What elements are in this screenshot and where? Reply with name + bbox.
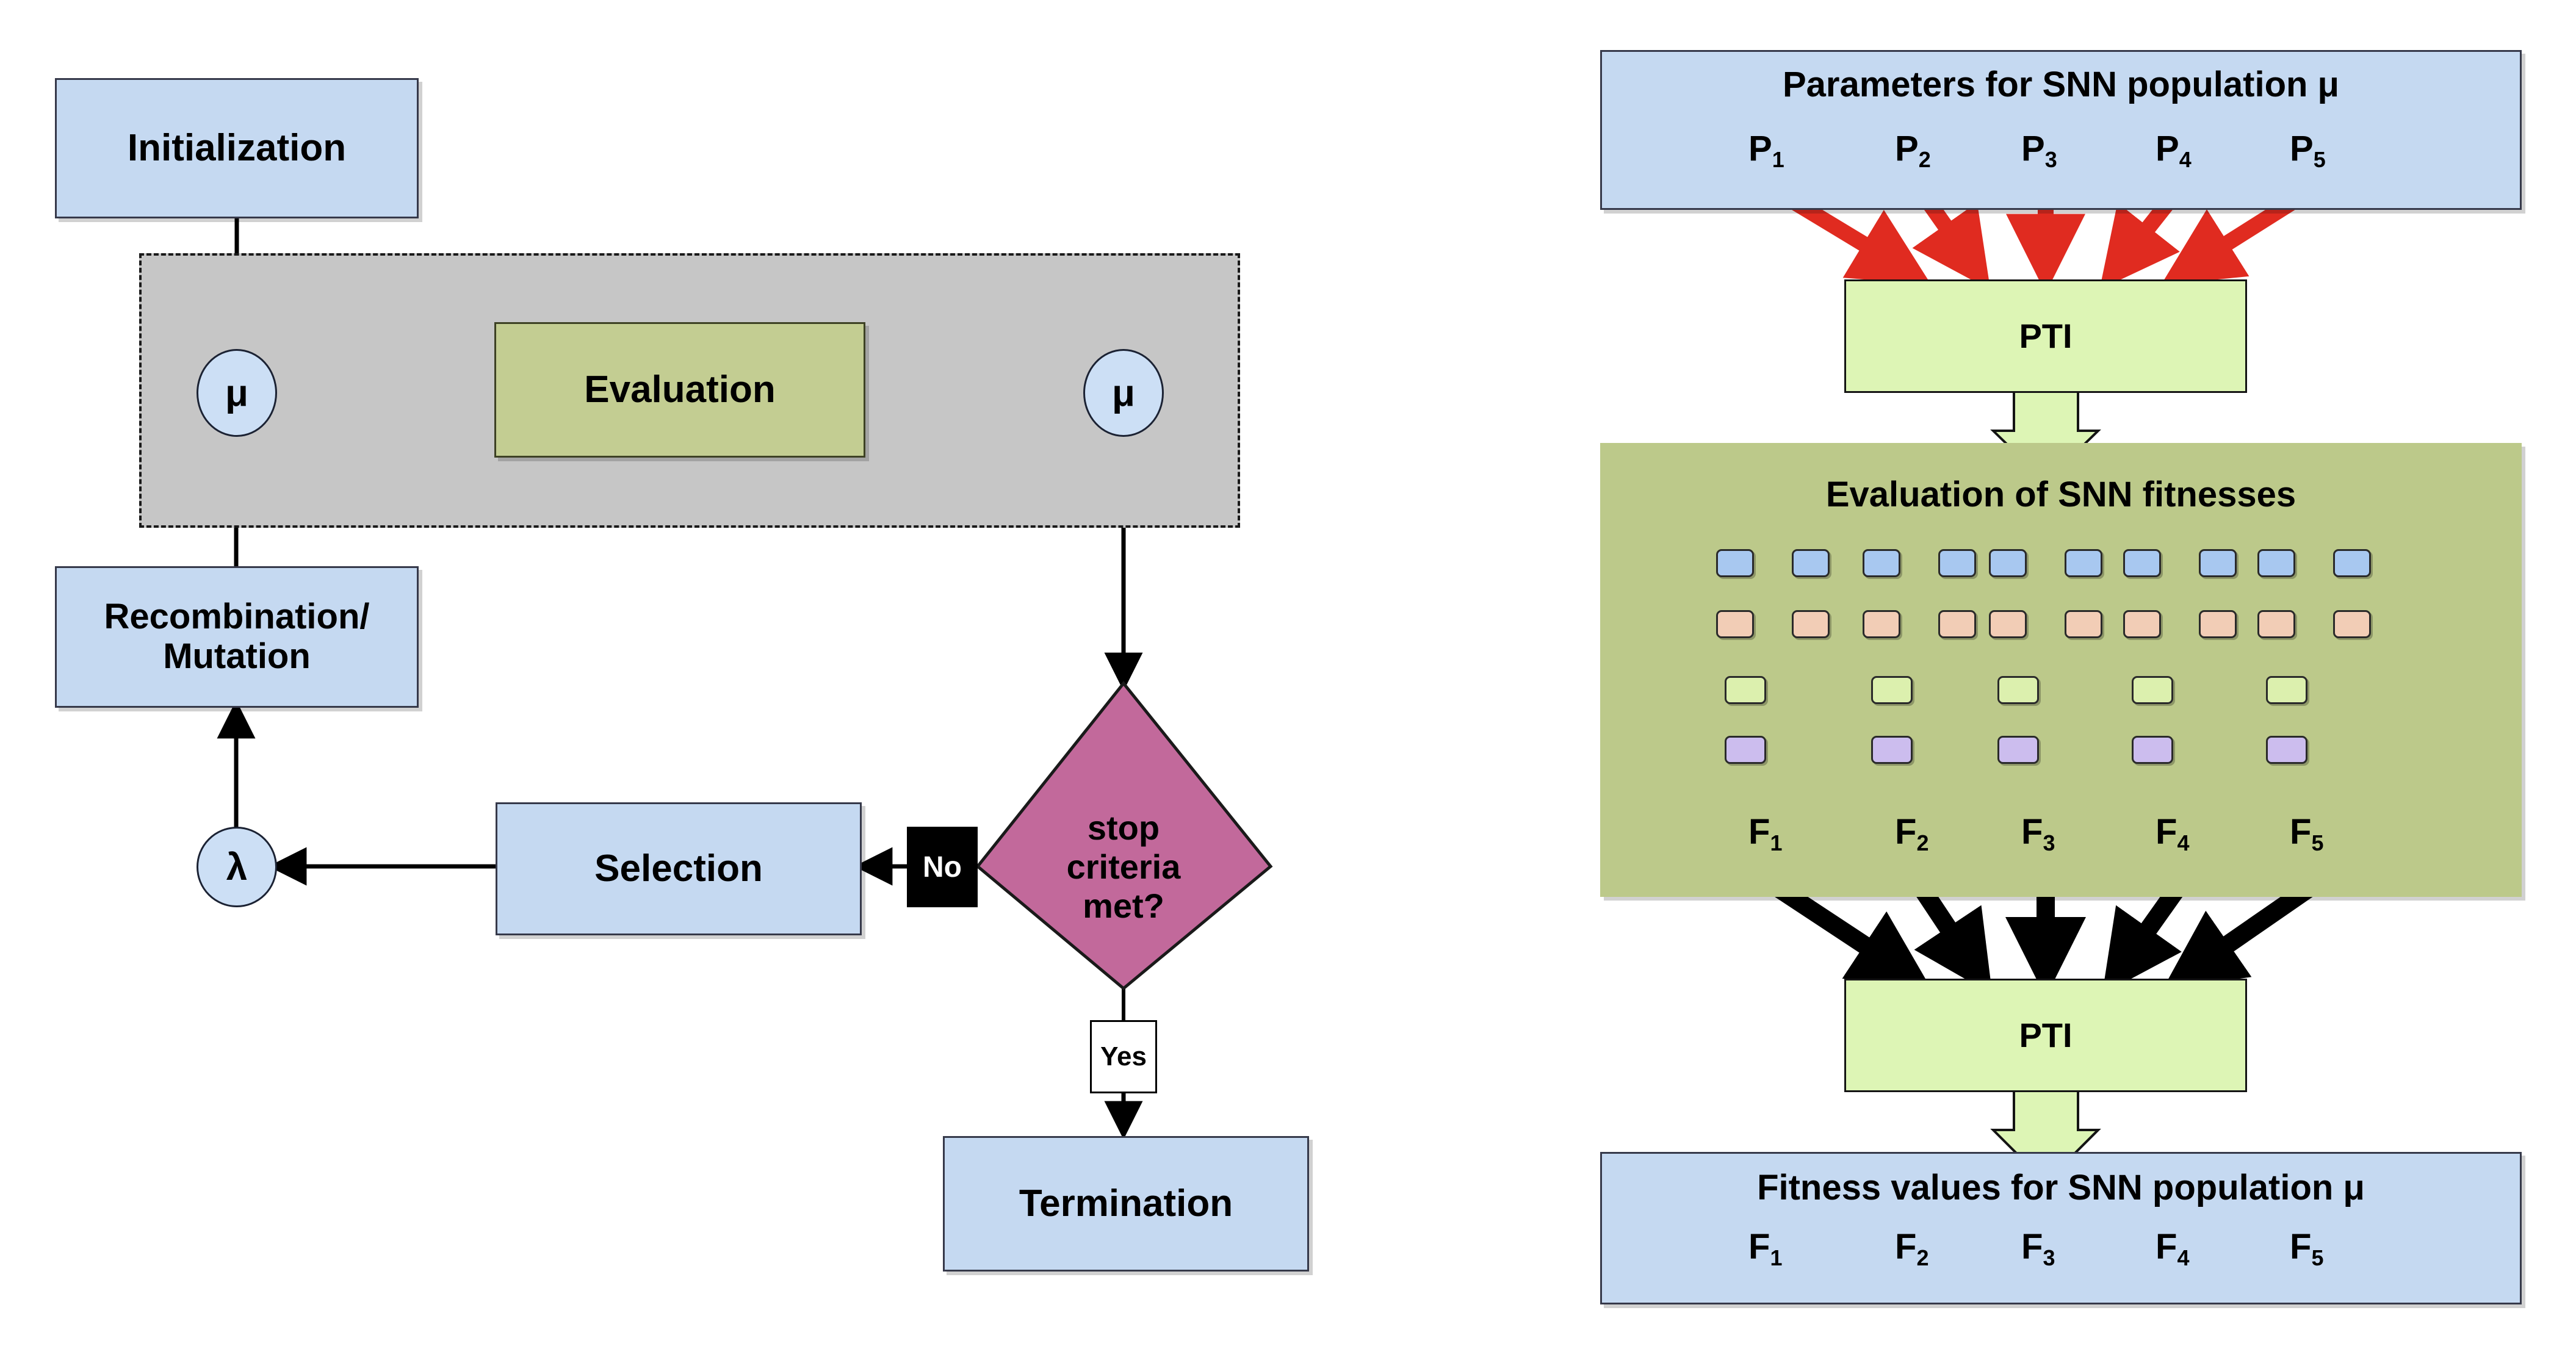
snn-1-integrator-node xyxy=(1725,676,1766,704)
fitness-label-box-5: F5 xyxy=(2290,1226,2323,1267)
snn-3-hidden-node-b xyxy=(2065,610,2102,638)
snn-1-hidden-node-b xyxy=(1792,610,1830,638)
snn-1-input-node-b xyxy=(1792,549,1830,577)
snn-2-input-node-a xyxy=(1863,549,1900,577)
snn-2-hidden-node-b xyxy=(1938,610,1976,638)
snn-2-hidden-node-a xyxy=(1863,610,1900,638)
fitness-label-box-4: F4 xyxy=(2156,1226,2189,1267)
fitness-label-eval-3: F3 xyxy=(2021,811,2055,852)
fitness-values-title: Fitness values for SNN population μ xyxy=(1757,1168,2365,1208)
snn-2-output-node xyxy=(1871,736,1913,764)
fitness-label-box-3: F3 xyxy=(2021,1226,2055,1267)
snn-4-output-node xyxy=(2132,736,2173,764)
snn-3-output-node xyxy=(1997,736,2039,764)
snn-5-hidden-node-a xyxy=(2257,610,2295,638)
snn-3-input-node-b xyxy=(2065,549,2102,577)
snn-3-input-node-a xyxy=(1989,549,2027,577)
snn-4-integrator-node xyxy=(2132,676,2173,704)
snn-1-hidden-node-a xyxy=(1716,610,1754,638)
snn-3-integrator-node xyxy=(1997,676,2039,704)
fitness-label-eval-5: F5 xyxy=(2290,811,2323,852)
snn-4-input-node-b xyxy=(2199,549,2237,577)
snn-2-input-node-b xyxy=(1938,549,1976,577)
snn-1-input-node-a xyxy=(1716,549,1754,577)
snn-1-output-node xyxy=(1725,736,1766,764)
fitness-label-row-eval: F1F2F3F4F5 xyxy=(1600,811,2522,872)
pti-bottom-label: PTI xyxy=(2019,1016,2072,1055)
fitness-label-eval-1: F1 xyxy=(1748,811,1782,852)
fitness-label-box-2: F2 xyxy=(1895,1226,1928,1267)
snn-5-input-node-b xyxy=(2333,549,2371,577)
snn-5-output-node xyxy=(2266,736,2307,764)
diagram-canvas: Initialization μ Evaluation μ Recombinat… xyxy=(0,0,2576,1349)
fitness-label-row-box: F1F2F3F4F5 xyxy=(1600,1226,2522,1287)
snn-5-hidden-node-b xyxy=(2333,610,2371,638)
fitness-label-eval-2: F2 xyxy=(1895,811,1928,852)
snn-3-hidden-node-a xyxy=(1989,610,2027,638)
snn-4-hidden-node-a xyxy=(2123,610,2161,638)
fitness-label-eval-4: F4 xyxy=(2156,811,2189,852)
snn-network-group xyxy=(0,0,2576,1349)
snn-4-hidden-node-b xyxy=(2199,610,2237,638)
snn-2-integrator-node xyxy=(1871,676,1913,704)
snn-4-input-node-a xyxy=(2123,549,2161,577)
pti-bottom-box[interactable]: PTI xyxy=(1844,979,2247,1092)
snn-5-integrator-node xyxy=(2266,676,2307,704)
snn-5-input-node-a xyxy=(2257,549,2295,577)
fitness-label-box-1: F1 xyxy=(1748,1226,1782,1267)
